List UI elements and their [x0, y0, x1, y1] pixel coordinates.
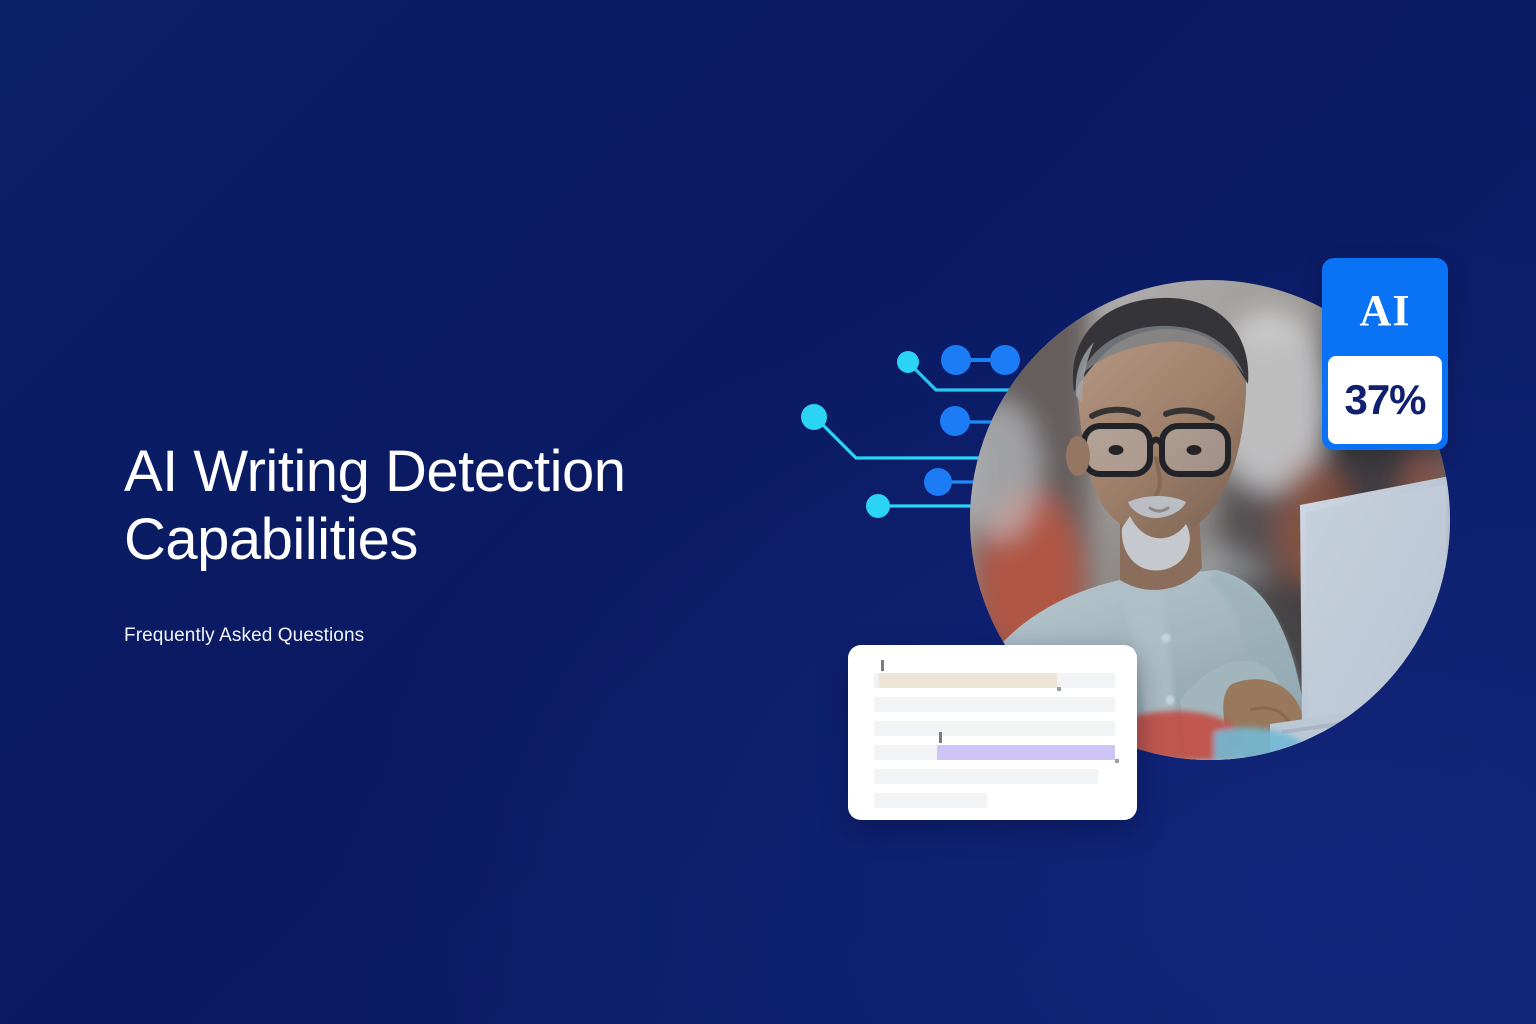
page-title: AI Writing Detection Capabilities [124, 438, 744, 574]
circuit-node-cyan-top [897, 351, 919, 373]
circuit-node-cyan-bottom [866, 494, 890, 518]
selection-handle[interactable] [1115, 759, 1119, 763]
document-line-highlight [879, 673, 1057, 688]
document-line [874, 721, 1115, 736]
circuit-node-blue-lower [924, 468, 952, 496]
circuit-node-blue-mid [940, 406, 970, 436]
document-placeholder-lines [874, 673, 1115, 808]
presentation-slide: AI Writing Detection Capabilities Freque… [0, 0, 1536, 1024]
hero-visual: AI 37% [790, 250, 1490, 840]
text-caret [881, 660, 884, 671]
document-line [874, 793, 987, 808]
slide-subtitle: Frequently Asked Questions [124, 623, 744, 649]
ai-badge-label: AI [1328, 264, 1442, 356]
document-line [874, 769, 1098, 784]
document-line [874, 673, 1115, 688]
circuit-node-cyan-left [801, 404, 827, 430]
title-block: AI Writing Detection Capabilities Freque… [124, 438, 744, 649]
document-line [874, 745, 1115, 760]
document-preview-card [848, 645, 1137, 820]
selection-handle[interactable] [1057, 687, 1061, 691]
document-line [874, 697, 1115, 712]
circuit-node-blue-pair-left [941, 345, 971, 375]
document-line-highlight [937, 745, 1115, 760]
text-caret [939, 732, 942, 743]
circuit-node-blue-pair-right [990, 345, 1020, 375]
ai-score-badge: AI 37% [1322, 258, 1448, 450]
ai-badge-score: 37% [1328, 356, 1442, 444]
